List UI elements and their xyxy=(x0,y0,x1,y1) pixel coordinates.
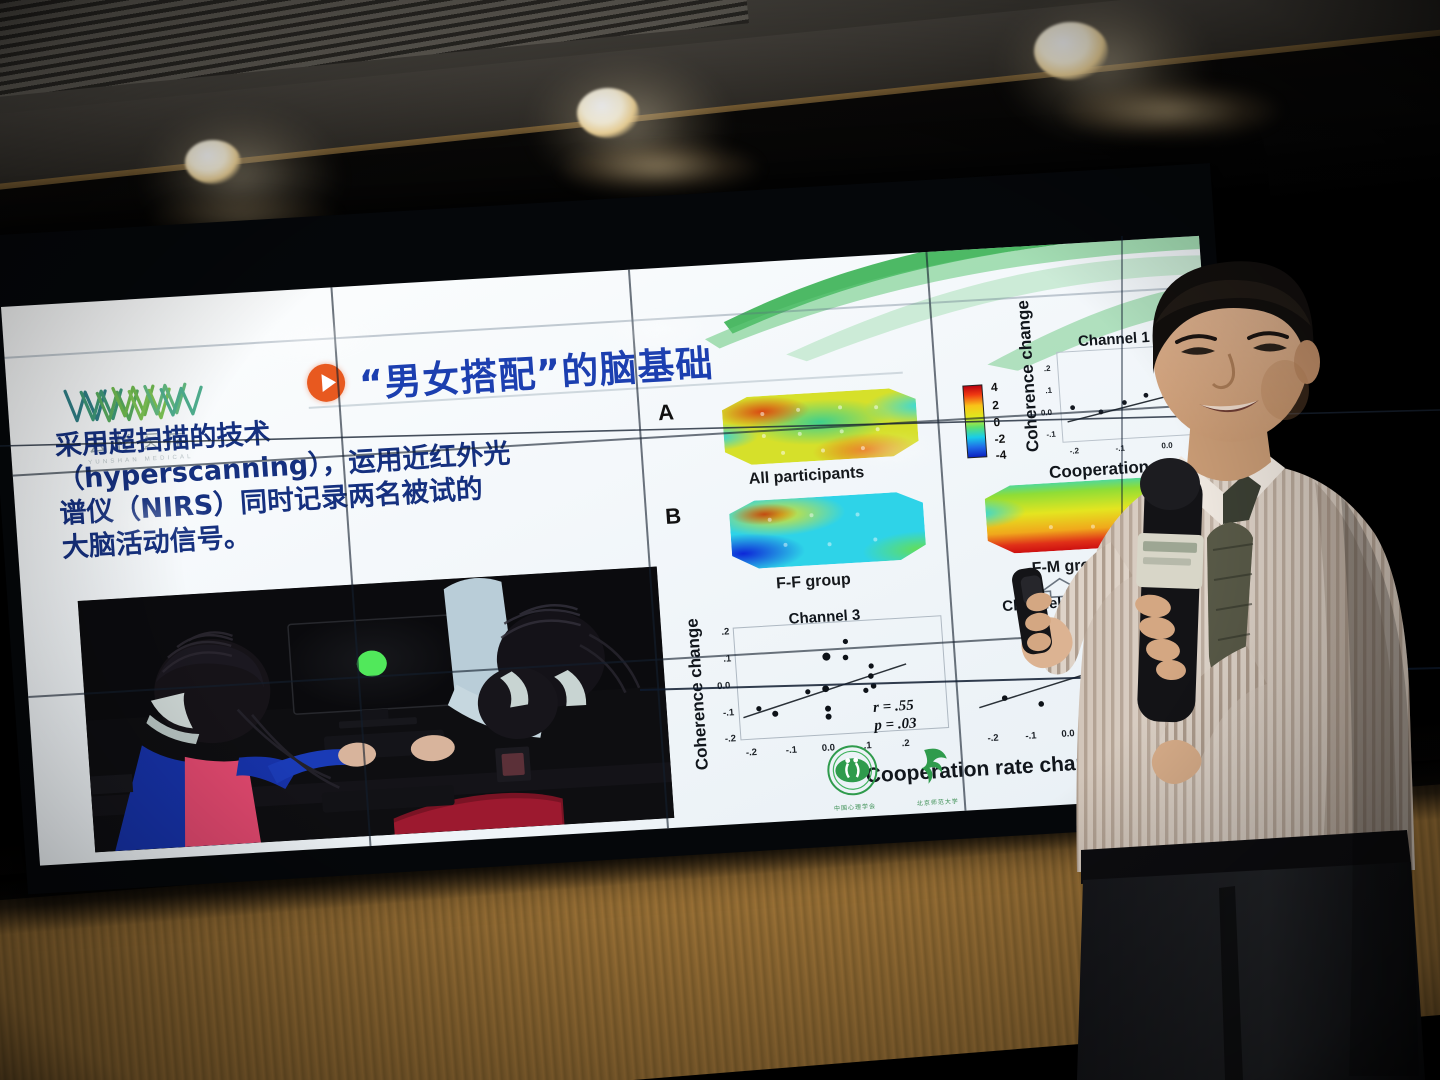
svg-text:-.2: -.2 xyxy=(746,747,758,759)
photo-scene: 云杉医疗 YUNSHAN MEDICAL “男女搭配”的脑基础 采用超扫描的技术… xyxy=(0,0,1440,1080)
footer-logo-1-caption: 中国心理学会 xyxy=(828,801,883,813)
footer-logo-2-caption: 北京师范大学 xyxy=(916,796,961,808)
green-bird-institution-logo: 北京师范大学 xyxy=(911,738,960,807)
downlight-right xyxy=(1034,22,1108,80)
svg-text:-.1: -.1 xyxy=(723,707,736,719)
scatter3-r-stat: r = .55 xyxy=(873,698,915,717)
wall-wash-center xyxy=(560,142,760,196)
map-caption-ff-group: F-F group xyxy=(776,571,852,593)
presenter xyxy=(985,250,1440,1080)
svg-text:.2: .2 xyxy=(721,626,730,637)
panel-letter-b: B xyxy=(664,503,682,530)
green-circular-institution-logo: 中国心理学会 xyxy=(824,743,883,813)
play-circle-icon[interactable] xyxy=(306,363,347,403)
experiment-photo xyxy=(78,567,675,853)
panel-letter-a: A xyxy=(657,399,675,426)
svg-text:0.0: 0.0 xyxy=(717,680,731,692)
footer-logos: 中国心理学会 北京师范大学 xyxy=(824,738,960,813)
brainmap-ff-group xyxy=(706,485,949,580)
downlight-left xyxy=(185,140,241,184)
wall-wash-right xyxy=(1060,82,1280,140)
brainmap-all-participants xyxy=(699,382,942,477)
svg-text:-.2: -.2 xyxy=(725,733,737,745)
scatter3-p-stat: p = .03 xyxy=(874,715,917,734)
downlight-center xyxy=(577,88,639,138)
slide-title-row: “男女搭配”的脑基础 xyxy=(305,333,715,411)
svg-text:-.1: -.1 xyxy=(785,745,798,757)
